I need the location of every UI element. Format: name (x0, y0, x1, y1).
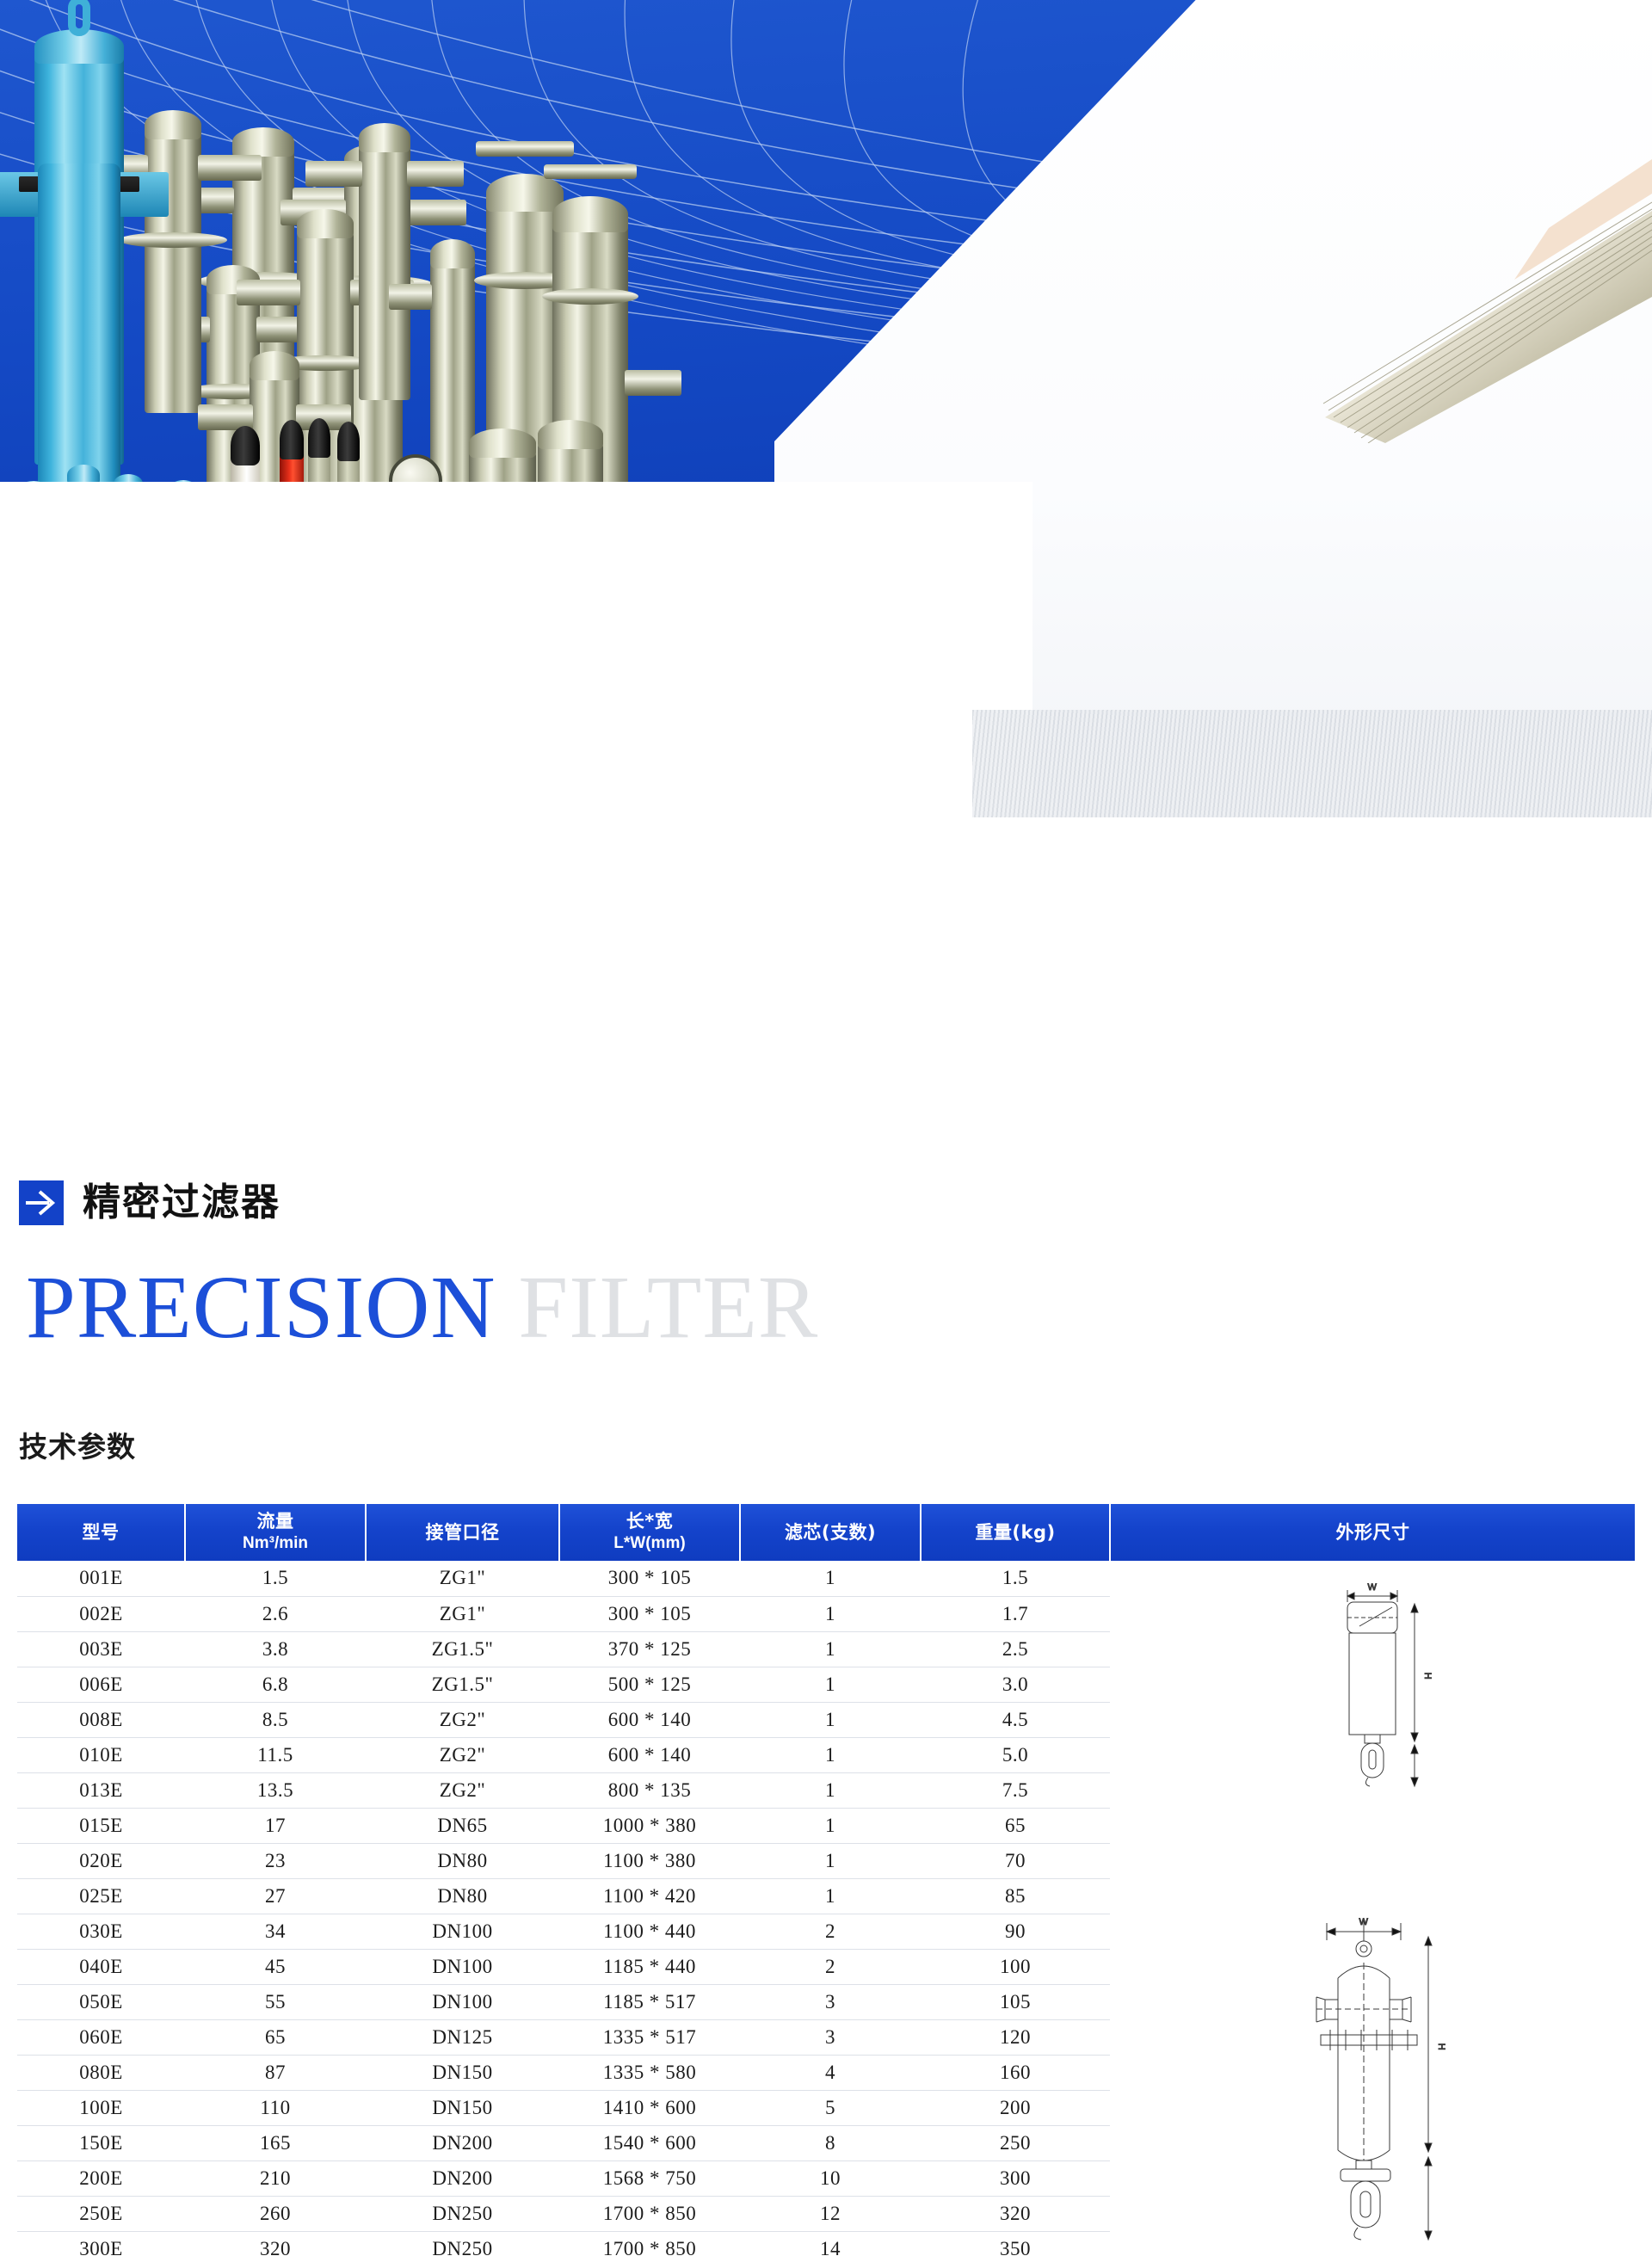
weight-cell: 90 (921, 1914, 1110, 1949)
spec-table-body: 001E1.5ZG1"300 * 10511.5 W H 00 (17, 1561, 1635, 2256)
weight-cell: 70 (921, 1843, 1110, 1878)
port-cell: DN125 (366, 2019, 559, 2055)
model-cell: 050E (17, 1984, 185, 2019)
elements-cell: 8 (740, 2125, 921, 2160)
elements-cell: 1 (740, 1702, 921, 1737)
svg-text:H: H (1436, 2043, 1446, 2050)
flow-cell: 2.6 (185, 1596, 366, 1631)
weight-cell: 105 (921, 1984, 1110, 2019)
pleated-filter-media-illustration (1239, 159, 1652, 443)
section-heading: 精密过滤器 (19, 1180, 280, 1225)
elements-cell: 14 (740, 2231, 921, 2256)
weight-cell: 85 (921, 1878, 1110, 1914)
flow-cell: 65 (185, 2019, 366, 2055)
elements-cell: 2 (740, 1914, 921, 1949)
port-cell: DN200 (366, 2125, 559, 2160)
model-cell: 006E (17, 1667, 185, 1702)
spec-table-wrapper: 型号 流量 Nm³/min 接管口径 长*宽 L*W(mm) 滤芯(支数) (17, 1504, 1635, 2256)
size-cell: 1700 * 850 (559, 2231, 740, 2256)
catalog-page: 精密过滤器 PRECISIONFILTER 技术参数 型号 流量 Nm³/min (0, 0, 1652, 2256)
outline-drawing-cell-small: W H (1110, 1561, 1635, 1808)
col-header-length-width: 长*宽 L*W(mm) (559, 1504, 740, 1561)
port-cell: DN65 (366, 1808, 559, 1843)
elements-cell: 12 (740, 2196, 921, 2231)
model-cell: 020E (17, 1843, 185, 1878)
port-cell: ZG2" (366, 1772, 559, 1808)
model-cell: 002E (17, 1596, 185, 1631)
size-cell: 1100 * 420 (559, 1878, 740, 1914)
size-cell: 600 * 140 (559, 1702, 740, 1737)
flow-cell: 87 (185, 2055, 366, 2090)
flow-cell: 260 (185, 2196, 366, 2231)
model-cell: 008E (17, 1702, 185, 1737)
size-cell: 500 * 125 (559, 1667, 740, 1702)
flow-cell: 1.5 (185, 1561, 366, 1596)
elements-cell: 3 (740, 2019, 921, 2055)
arrow-right-icon (19, 1180, 64, 1225)
col-header-model: 型号 (17, 1504, 185, 1561)
size-cell: 300 * 105 (559, 1561, 740, 1596)
flow-cell: 17 (185, 1808, 366, 1843)
port-cell: ZG1" (366, 1561, 559, 1596)
flow-cell: 6.8 (185, 1667, 366, 1702)
filter-vessel (359, 142, 410, 400)
weight-cell: 1.5 (921, 1561, 1110, 1596)
port-cell: DN250 (366, 2231, 559, 2256)
page-title: PRECISIONFILTER (26, 1263, 818, 1353)
model-cell: 003E (17, 1631, 185, 1667)
elements-cell: 4 (740, 2055, 921, 2090)
size-cell: 1100 * 440 (559, 1914, 740, 1949)
small-filter-outline-drawing: W H (1308, 1573, 1437, 1797)
col-header-weight: 重量(kg) (921, 1504, 1110, 1561)
hero-banner (0, 0, 1652, 817)
weight-cell: 120 (921, 2019, 1110, 2055)
flow-cell: 27 (185, 1878, 366, 1914)
weight-cell: 200 (921, 2090, 1110, 2125)
weight-cell: 320 (921, 2196, 1110, 2231)
large-filter-outline-drawing: W H (1291, 1892, 1454, 2253)
elements-cell: 2 (740, 1949, 921, 1984)
hero-gray-texture-bar (972, 710, 1652, 817)
elements-cell: 3 (740, 1984, 921, 2019)
size-cell: 1100 * 380 (559, 1843, 740, 1878)
flow-cell: 23 (185, 1843, 366, 1878)
port-cell: ZG2" (366, 1702, 559, 1737)
flow-cell: 13.5 (185, 1772, 366, 1808)
weight-cell: 160 (921, 2055, 1110, 2090)
port-cell: DN80 (366, 1843, 559, 1878)
flow-cell: 165 (185, 2125, 366, 2160)
model-cell: 001E (17, 1561, 185, 1596)
size-cell: 370 * 125 (559, 1631, 740, 1667)
elements-cell: 1 (740, 1667, 921, 1702)
table-row: 015E17DN651000 * 380165 W (17, 1808, 1635, 1843)
weight-cell: 7.5 (921, 1772, 1110, 1808)
page-title-secondary: FILTER (518, 1258, 818, 1357)
model-cell: 060E (17, 2019, 185, 2055)
port-cell: DN150 (366, 2090, 559, 2125)
model-cell: 025E (17, 1878, 185, 1914)
size-cell: 1185 * 517 (559, 1984, 740, 2019)
svg-text:W: W (1368, 1582, 1378, 1593)
elements-cell: 1 (740, 1596, 921, 1631)
size-cell: 1410 * 600 (559, 2090, 740, 2125)
section-title-cn: 精密过滤器 (83, 1180, 280, 1225)
weight-cell: 3.0 (921, 1667, 1110, 1702)
size-cell: 1000 * 380 (559, 1808, 740, 1843)
elements-cell: 10 (740, 2160, 921, 2196)
flow-cell: 8.5 (185, 1702, 366, 1737)
size-cell: 1568 * 750 (559, 2160, 740, 2196)
lifting-eye-icon (68, 0, 90, 36)
model-cell: 040E (17, 1949, 185, 1984)
flow-cell: 320 (185, 2231, 366, 2256)
size-cell: 1185 * 440 (559, 1949, 740, 1984)
size-cell: 800 * 135 (559, 1772, 740, 1808)
elements-cell: 1 (740, 1878, 921, 1914)
size-cell: 1335 * 517 (559, 2019, 740, 2055)
table-row: 001E1.5ZG1"300 * 10511.5 W H (17, 1561, 1635, 1596)
col-header-outline-dimensions: 外形尺寸 (1110, 1504, 1635, 1561)
flow-cell: 210 (185, 2160, 366, 2196)
weight-cell: 250 (921, 2125, 1110, 2160)
model-cell: 200E (17, 2160, 185, 2196)
port-cell: DN150 (366, 2055, 559, 2090)
flow-cell: 3.8 (185, 1631, 366, 1667)
flow-cell: 11.5 (185, 1737, 366, 1772)
port-cell: ZG1.5" (366, 1667, 559, 1702)
svg-text:H: H (1422, 1672, 1433, 1679)
weight-cell: 2.5 (921, 1631, 1110, 1667)
size-cell: 300 * 105 (559, 1596, 740, 1631)
weight-cell: 4.5 (921, 1702, 1110, 1737)
port-cell: ZG2" (366, 1737, 559, 1772)
table-header-row: 型号 流量 Nm³/min 接管口径 长*宽 L*W(mm) 滤芯(支数) (17, 1504, 1635, 1561)
elements-cell: 1 (740, 1808, 921, 1843)
weight-cell: 5.0 (921, 1737, 1110, 1772)
elements-cell: 1 (740, 1561, 921, 1596)
elements-cell: 1 (740, 1772, 921, 1808)
model-cell: 080E (17, 2055, 185, 2090)
hero-lower-white-band (0, 482, 1032, 817)
flow-cell: 55 (185, 1984, 366, 2019)
flow-cell: 34 (185, 1914, 366, 1949)
port-cell: DN200 (366, 2160, 559, 2196)
model-cell: 030E (17, 1914, 185, 1949)
weight-cell: 65 (921, 1808, 1110, 1843)
port-cell: DN100 (366, 1914, 559, 1949)
elements-cell: 5 (740, 2090, 921, 2125)
model-cell: 300E (17, 2231, 185, 2256)
port-cell: ZG1.5" (366, 1631, 559, 1667)
model-cell: 250E (17, 2196, 185, 2231)
weight-cell: 350 (921, 2231, 1110, 2256)
model-cell: 100E (17, 2090, 185, 2125)
port-cell: ZG1" (366, 1596, 559, 1631)
col-header-element-count: 滤芯(支数) (740, 1504, 921, 1561)
size-cell: 1700 * 850 (559, 2196, 740, 2231)
weight-cell: 100 (921, 1949, 1110, 1984)
port-cell: DN80 (366, 1878, 559, 1914)
port-cell: DN100 (366, 1984, 559, 2019)
subheading-technical-parameters: 技术参数 (19, 1424, 136, 1465)
weight-cell: 1.7 (921, 1596, 1110, 1631)
size-cell: 600 * 140 (559, 1737, 740, 1772)
model-cell: 013E (17, 1772, 185, 1808)
flow-cell: 45 (185, 1949, 366, 1984)
elements-cell: 1 (740, 1737, 921, 1772)
flow-cell: 110 (185, 2090, 366, 2125)
size-cell: 1540 * 600 (559, 2125, 740, 2160)
model-cell: 150E (17, 2125, 185, 2160)
page-title-primary: PRECISION (26, 1258, 496, 1357)
elements-cell: 1 (740, 1843, 921, 1878)
port-cell: DN250 (366, 2196, 559, 2231)
spec-table: 型号 流量 Nm³/min 接管口径 长*宽 L*W(mm) 滤芯(支数) (17, 1504, 1635, 2256)
spec-table-head: 型号 流量 Nm³/min 接管口径 长*宽 L*W(mm) 滤芯(支数) (17, 1504, 1635, 1561)
port-cell: DN100 (366, 1949, 559, 1984)
model-cell: 015E (17, 1808, 185, 1843)
elements-cell: 1 (740, 1631, 921, 1667)
weight-cell: 300 (921, 2160, 1110, 2196)
col-header-port-diameter: 接管口径 (366, 1504, 559, 1561)
model-cell: 010E (17, 1737, 185, 1772)
col-header-flow: 流量 Nm³/min (185, 1504, 366, 1561)
size-cell: 1335 * 580 (559, 2055, 740, 2090)
outline-drawing-cell-large: W H (1110, 1808, 1635, 2256)
